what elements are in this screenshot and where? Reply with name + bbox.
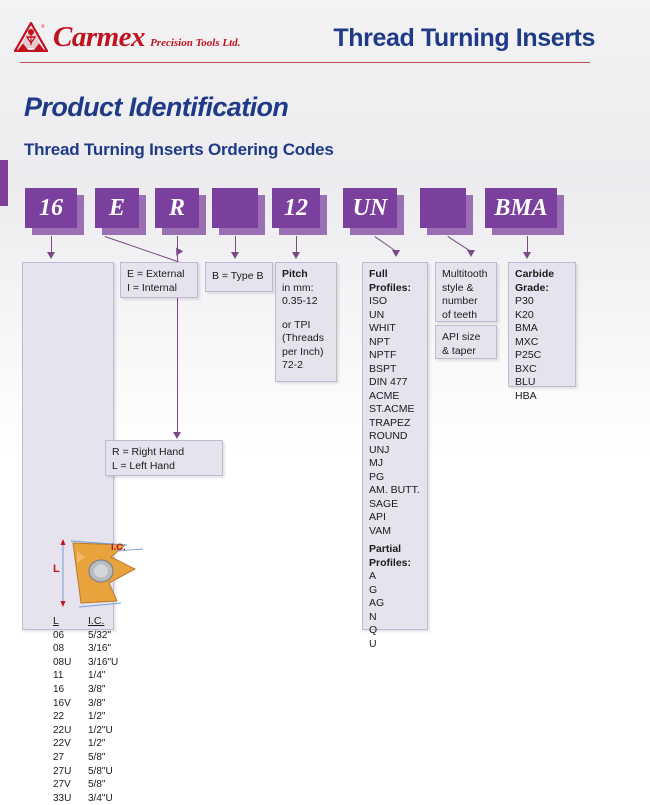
cell-l: 22 <box>53 710 88 724</box>
list-item: ROUND <box>369 430 421 444</box>
list-item: MJ <box>369 457 421 471</box>
full-profiles-title: Profiles: <box>369 282 411 294</box>
document-title: Thread Turning Inserts <box>333 24 595 53</box>
list-item: A <box>369 570 421 584</box>
code-box-size: 16 <box>25 188 77 228</box>
arrowhead-ext-int <box>173 248 183 258</box>
type-line: B = Type B <box>212 270 263 284</box>
list-item: WHIT <box>369 322 421 336</box>
list-item: AG <box>369 597 421 611</box>
cell-l: 27V <box>53 778 88 792</box>
arrowhead-hand <box>173 432 181 439</box>
cell-l: 16 <box>53 683 88 697</box>
cell-l: 08 <box>53 642 88 656</box>
table-row: 275/8" <box>53 751 143 765</box>
cell-l: 16V <box>53 697 88 711</box>
pitch-line: or TPI <box>282 319 330 333</box>
cell-ic: 5/32" <box>88 629 143 643</box>
cell-ic: 3/8" <box>88 697 143 711</box>
multitooth-line: Multitooth <box>442 268 490 282</box>
insert-ic-label: I.C. <box>111 541 126 555</box>
cell-l: 27 <box>53 751 88 765</box>
header-divider <box>20 62 590 63</box>
arrowhead-type <box>231 252 239 259</box>
connector-profile <box>374 236 395 251</box>
list-item: AM. BUTT. <box>369 484 421 498</box>
pitch-line: 0.35-12 <box>282 295 330 309</box>
code-box-label: UN <box>353 196 388 220</box>
table-row: 33U3/4"U <box>53 792 143 805</box>
list-item: K20 <box>515 309 569 323</box>
grade-detail-box: Carbide Grade: P30 K20 BMA MXC P25C BXC … <box>508 262 576 387</box>
page-header: ® Carmex Precision Tools Ltd. Thread Tur… <box>0 0 650 64</box>
ext-int-detail-box: E = External I = Internal <box>120 262 198 298</box>
column-header-l: L <box>53 615 88 629</box>
list-item: ST.ACME <box>369 403 421 417</box>
list-item: U <box>369 638 421 652</box>
multitooth-line: style & <box>442 282 490 296</box>
table-row: 16V3/8" <box>53 697 143 711</box>
multitooth-line: of teeth <box>442 309 490 323</box>
table-row: 163/8" <box>53 683 143 697</box>
list-item: NPTF <box>369 349 421 363</box>
cell-l: 33U <box>53 792 88 805</box>
list-item: API <box>369 511 421 525</box>
cell-ic: 1/2"U <box>88 724 143 738</box>
direction-line: L = Left Hand <box>112 460 216 474</box>
cell-ic: 3/16" <box>88 642 143 656</box>
size-table: L I.C. 065/32" 083/16" 08U3/16"U 111/4" … <box>53 615 143 805</box>
list-item: VAM <box>369 525 421 539</box>
list-item: NPT <box>369 336 421 350</box>
arrowhead-size <box>47 252 55 259</box>
list-item: N <box>369 611 421 625</box>
table-row: 27V5/8" <box>53 778 143 792</box>
pitch-line: in mm: <box>282 282 330 296</box>
list-item: HBA <box>515 390 569 404</box>
list-item: TRAPEZ <box>369 417 421 431</box>
pitch-title: Pitch <box>282 268 308 280</box>
column-header-ic: I.C. <box>88 615 143 629</box>
grade-list: P30 K20 BMA MXC P25C BXC BLU HBA <box>515 295 569 403</box>
grade-title: Grade: <box>515 282 549 294</box>
table-row: 111/4" <box>53 669 143 683</box>
cell-l: 08U <box>53 656 88 670</box>
list-item: P25C <box>515 349 569 363</box>
direction-detail-box: R = Right Hand L = Left Hand <box>105 440 223 476</box>
code-box-type <box>212 188 258 228</box>
left-accent-bar <box>0 160 8 206</box>
pitch-detail-box: Pitch in mm: 0.35-12 or TPI (Threads per… <box>275 262 337 382</box>
cell-l: 22V <box>53 737 88 751</box>
partial-profiles-title: Partial <box>369 543 401 555</box>
list-item: BXC <box>515 363 569 377</box>
api-line: API size <box>442 331 490 345</box>
cell-ic: 5/8"U <box>88 765 143 779</box>
list-item: DIN 477 <box>369 376 421 390</box>
pitch-line: per Inch) <box>282 346 330 360</box>
code-box-ext-int: E <box>95 188 139 228</box>
carmex-triangle-logo-icon: ® <box>14 22 48 52</box>
table-row: 083/16" <box>53 642 143 656</box>
cell-l: 11 <box>53 669 88 683</box>
list-item: ACME <box>369 390 421 404</box>
multitooth-detail-box: Multitooth style & number of teeth <box>435 262 497 322</box>
code-box-profile: UN <box>343 188 397 228</box>
cell-l: 22U <box>53 724 88 738</box>
ext-int-line: I = Internal <box>127 282 191 296</box>
code-box-label: 16 <box>39 196 63 220</box>
table-row: 065/32" <box>53 629 143 643</box>
arrowhead-pitch <box>292 252 300 259</box>
page-root: ® Carmex Precision Tools Ltd. Thread Tur… <box>0 0 650 650</box>
code-box-label: R <box>169 196 185 220</box>
cell-ic: 5/8" <box>88 751 143 765</box>
partial-profiles-list: A G AG N Q U <box>369 570 421 651</box>
list-item: PG <box>369 471 421 485</box>
cell-ic: 1/4" <box>88 669 143 683</box>
arrowhead-multitooth <box>467 250 475 257</box>
list-item: UN <box>369 309 421 323</box>
partial-profiles-title: Profiles: <box>369 557 411 569</box>
list-item: ISO <box>369 295 421 309</box>
list-item: G <box>369 584 421 598</box>
list-item: SAGE <box>369 498 421 512</box>
insert-diagram-icon <box>51 531 147 615</box>
cell-l: 06 <box>53 629 88 643</box>
size-detail-box: L I.C. L I.C. 065/32" 083/16" 08U3/16"U … <box>22 262 114 630</box>
full-profiles-title: Full <box>369 268 388 280</box>
table-row: 221/2" <box>53 710 143 724</box>
code-box-grade: BMA <box>485 188 557 228</box>
brand-subtitle: Precision Tools Ltd. <box>150 38 240 49</box>
direction-line: R = Right Hand <box>112 446 216 460</box>
type-detail-box: B = Type B <box>205 262 273 292</box>
list-item: BSPT <box>369 363 421 377</box>
list-item: BLU <box>515 376 569 390</box>
cell-ic: 5/8" <box>88 778 143 792</box>
connector-ext-int <box>105 236 179 262</box>
code-box-pitch: 12 <box>272 188 320 228</box>
pitch-spacer <box>282 309 330 319</box>
arrowhead-profile <box>392 250 400 257</box>
pitch-line: 72-2 <box>282 359 330 373</box>
list-item: UNJ <box>369 444 421 458</box>
section-title: Product Identification <box>24 92 288 123</box>
multitooth-line: number <box>442 295 490 309</box>
cell-ic: 1/2" <box>88 710 143 724</box>
table-row: 22V1/2" <box>53 737 143 751</box>
profiles-detail-box: Full Profiles: ISO UN WHIT NPT NPTF BSPT… <box>362 262 428 630</box>
table-row: 27U5/8"U <box>53 765 143 779</box>
ext-int-line: E = External <box>127 268 191 282</box>
svg-text:®: ® <box>41 24 45 30</box>
cell-ic: 3/16"U <box>88 656 143 670</box>
full-profiles-list: ISO UN WHIT NPT NPTF BSPT DIN 477 ACME S… <box>369 295 421 538</box>
code-box-multitooth <box>420 188 466 228</box>
code-box-label: BMA <box>494 196 547 220</box>
cell-ic: 3/8" <box>88 683 143 697</box>
pitch-line: (Threads <box>282 332 330 346</box>
code-box-label: 12 <box>284 196 308 220</box>
brand-logo: ® Carmex Precision Tools Ltd. <box>14 22 240 52</box>
brand-name: Carmex <box>53 23 145 52</box>
table-header-row: L I.C. <box>53 615 143 629</box>
grade-title: Carbide <box>515 268 554 280</box>
table-row: 08U3/16"U <box>53 656 143 670</box>
list-item: MXC <box>515 336 569 350</box>
cell-ic: 1/2" <box>88 737 143 751</box>
list-item: P30 <box>515 295 569 309</box>
cell-l: 27U <box>53 765 88 779</box>
arrowhead-grade <box>523 252 531 259</box>
code-box-hand: R <box>155 188 199 228</box>
code-box-label: E <box>109 196 125 220</box>
table-row: 22U1/2"U <box>53 724 143 738</box>
section-subtitle: Thread Turning Inserts Ordering Codes <box>24 140 334 160</box>
api-detail-box: API size & taper <box>435 325 497 359</box>
list-item: Q <box>369 624 421 638</box>
insert-length-label: L <box>53 563 60 577</box>
list-item: BMA <box>515 322 569 336</box>
cell-ic: 3/4"U <box>88 792 143 805</box>
api-line: & taper <box>442 345 490 359</box>
